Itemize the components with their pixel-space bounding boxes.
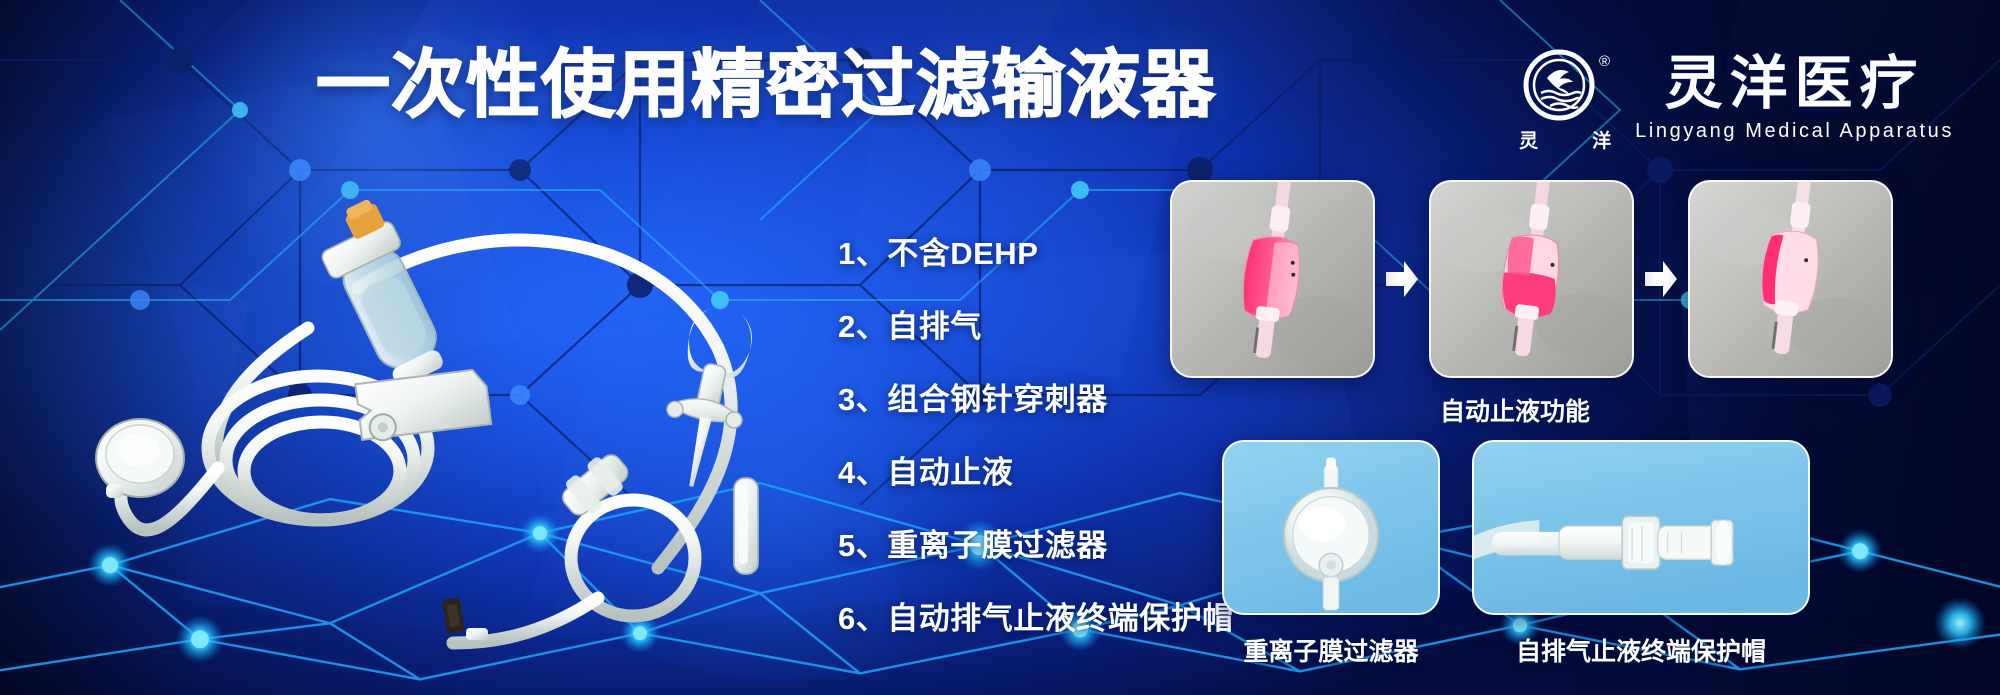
feature-item-5: 5、重离子膜过滤器 [838, 520, 1234, 565]
arrow-right-icon [1643, 259, 1679, 299]
demo-frame-1 [1170, 180, 1375, 378]
demo-frame-3 [1688, 180, 1893, 378]
feature-item-4: 4、自动止液 [838, 447, 1234, 492]
product-card-protective-cap [1472, 440, 1810, 615]
caption-filter: 重离子膜过滤器 [1222, 632, 1440, 668]
promo-banner: 一次性使用精密过滤输液器 ® 灵 洋 灵洋医疗 Lingyang Medical… [0, 0, 2000, 695]
logo-char-left: 灵 [1519, 126, 1538, 153]
brand-logo: ® 灵 洋 灵洋医疗 Lingyang Medical Apparatus [1517, 46, 1954, 150]
svg-text:®: ® [1599, 53, 1610, 70]
company-name-en: Lingyang Medical Apparatus [1635, 120, 1954, 143]
logo-emblem-caption: 灵 洋 [1519, 126, 1611, 153]
auto-stop-caption: 自动止液功能 [1170, 392, 1860, 428]
logo-emblem-icon: ® 灵 洋 [1517, 46, 1613, 150]
brand-name-block: 灵洋医疗 Lingyang Medical Apparatus [1635, 53, 1954, 143]
auto-stop-demo-row [1170, 180, 1893, 378]
company-name-cn: 灵洋医疗 [1665, 53, 1925, 116]
product-card-row [1222, 440, 1810, 615]
demo-frame-2 [1429, 180, 1634, 378]
caption-protective-cap: 自排气止液终端保护帽 [1472, 632, 1810, 668]
banner-title: 一次性使用精密过滤输液器 [316, 46, 1216, 124]
product-card-filter [1222, 440, 1440, 615]
arrow-right-icon [1384, 259, 1420, 299]
product-card-caption-row: 重离子膜过滤器 自排气止液终端保护帽 [1222, 632, 1810, 668]
feature-item-6: 6、自动排气止液终端保护帽 [838, 593, 1234, 638]
logo-char-right: 洋 [1592, 126, 1611, 153]
